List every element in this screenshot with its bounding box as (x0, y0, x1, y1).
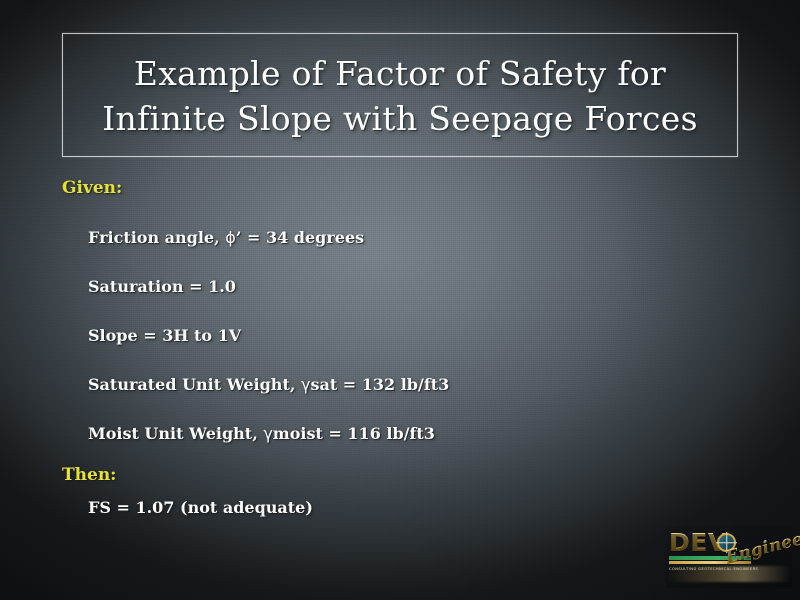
spacer (0, 485, 800, 498)
given-item-saturated-unit-weight: Saturated Unit Weight, γsat = 132 lb/ft3 (88, 375, 800, 394)
given-item-3-suffix: sat = 132 lb/ft3 (310, 375, 449, 394)
slide-canvas: Example of Factor of Safety for Infinite… (0, 0, 800, 600)
title-line-2: Infinite Slope with Seepage Forces (102, 96, 698, 141)
spacer (0, 394, 800, 424)
then-result-factor-of-safety: FS = 1.07 (not adequate) (88, 498, 800, 517)
title-line-1: Example of Factor of Safety for (134, 51, 666, 96)
then-section-label: Then: (62, 465, 800, 485)
given-item-slope: Slope = 3H to 1V (88, 326, 800, 345)
logo-tagline: CONSULTING GEOTECHNICAL ENGINEERS (669, 566, 753, 572)
slide-title: Example of Factor of Safety for Infinite… (62, 38, 738, 154)
given-item-saturation: Saturation = 1.0 (88, 277, 800, 296)
devo-engineering-logo: DEV CONSULTING GEOTECHNICAL ENGINEERS En… (666, 526, 792, 588)
given-item-0-prefix: Friction angle, (88, 228, 225, 247)
gamma-symbol-moist: γ (263, 424, 272, 443)
given-item-friction-angle: Friction angle, ϕ’ = 34 degrees (88, 228, 800, 247)
given-item-3-prefix: Saturated Unit Weight, (88, 375, 301, 394)
slide-body: Given: Friction angle, ϕ’ = 34 degrees S… (0, 178, 800, 517)
given-item-2-prefix: Slope = 3H to 1V (88, 326, 241, 345)
given-item-1-prefix: Saturation = 1.0 (88, 277, 236, 296)
phi-symbol: ϕ (225, 228, 236, 247)
spacer (0, 345, 800, 375)
spacer (0, 247, 800, 277)
spacer (0, 296, 800, 326)
spacer (0, 443, 800, 465)
given-section-label: Given: (62, 178, 800, 198)
given-item-4-prefix: Moist Unit Weight, (88, 424, 263, 443)
given-item-moist-unit-weight: Moist Unit Weight, γmoist = 116 lb/ft3 (88, 424, 800, 443)
given-item-4-suffix: moist = 116 lb/ft3 (273, 424, 435, 443)
spacer (0, 198, 800, 228)
given-item-0-suffix: ’ = 34 degrees (236, 228, 364, 247)
